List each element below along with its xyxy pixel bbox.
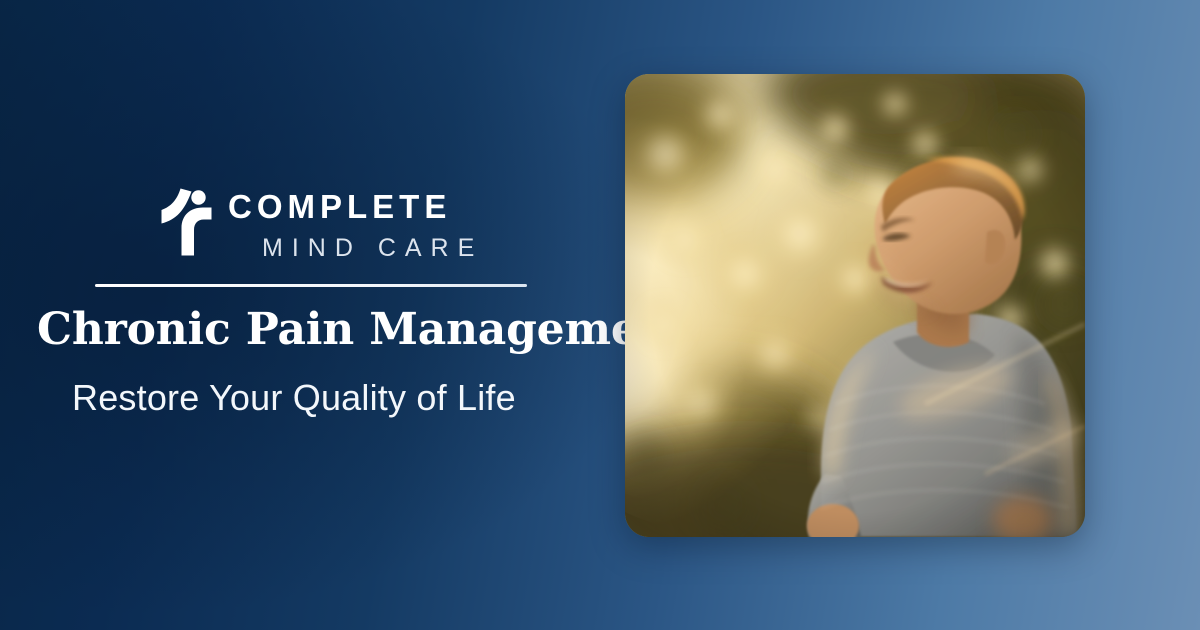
horizontal-divider: [95, 284, 527, 287]
page-title: Chronic Pain Management: [37, 305, 597, 354]
page-subtitle: Restore Your Quality of Life: [72, 376, 592, 419]
left-content-panel: COMPLETE MIND CARE Chronic Pain Manageme…: [0, 0, 600, 630]
brand-name-secondary: MIND CARE: [262, 236, 483, 261]
brand-name-primary: COMPLETE: [228, 190, 483, 223]
brand-logo-lockup[interactable]: COMPLETE MIND CARE: [160, 186, 483, 261]
hero-photo: [625, 74, 1085, 537]
marketing-banner: COMPLETE MIND CARE Chronic Pain Manageme…: [0, 0, 1200, 630]
abstract-person-swoosh-icon: [160, 188, 216, 256]
brand-wordmark: COMPLETE MIND CARE: [228, 186, 483, 261]
jogger-sunset-photo: [625, 74, 1085, 537]
